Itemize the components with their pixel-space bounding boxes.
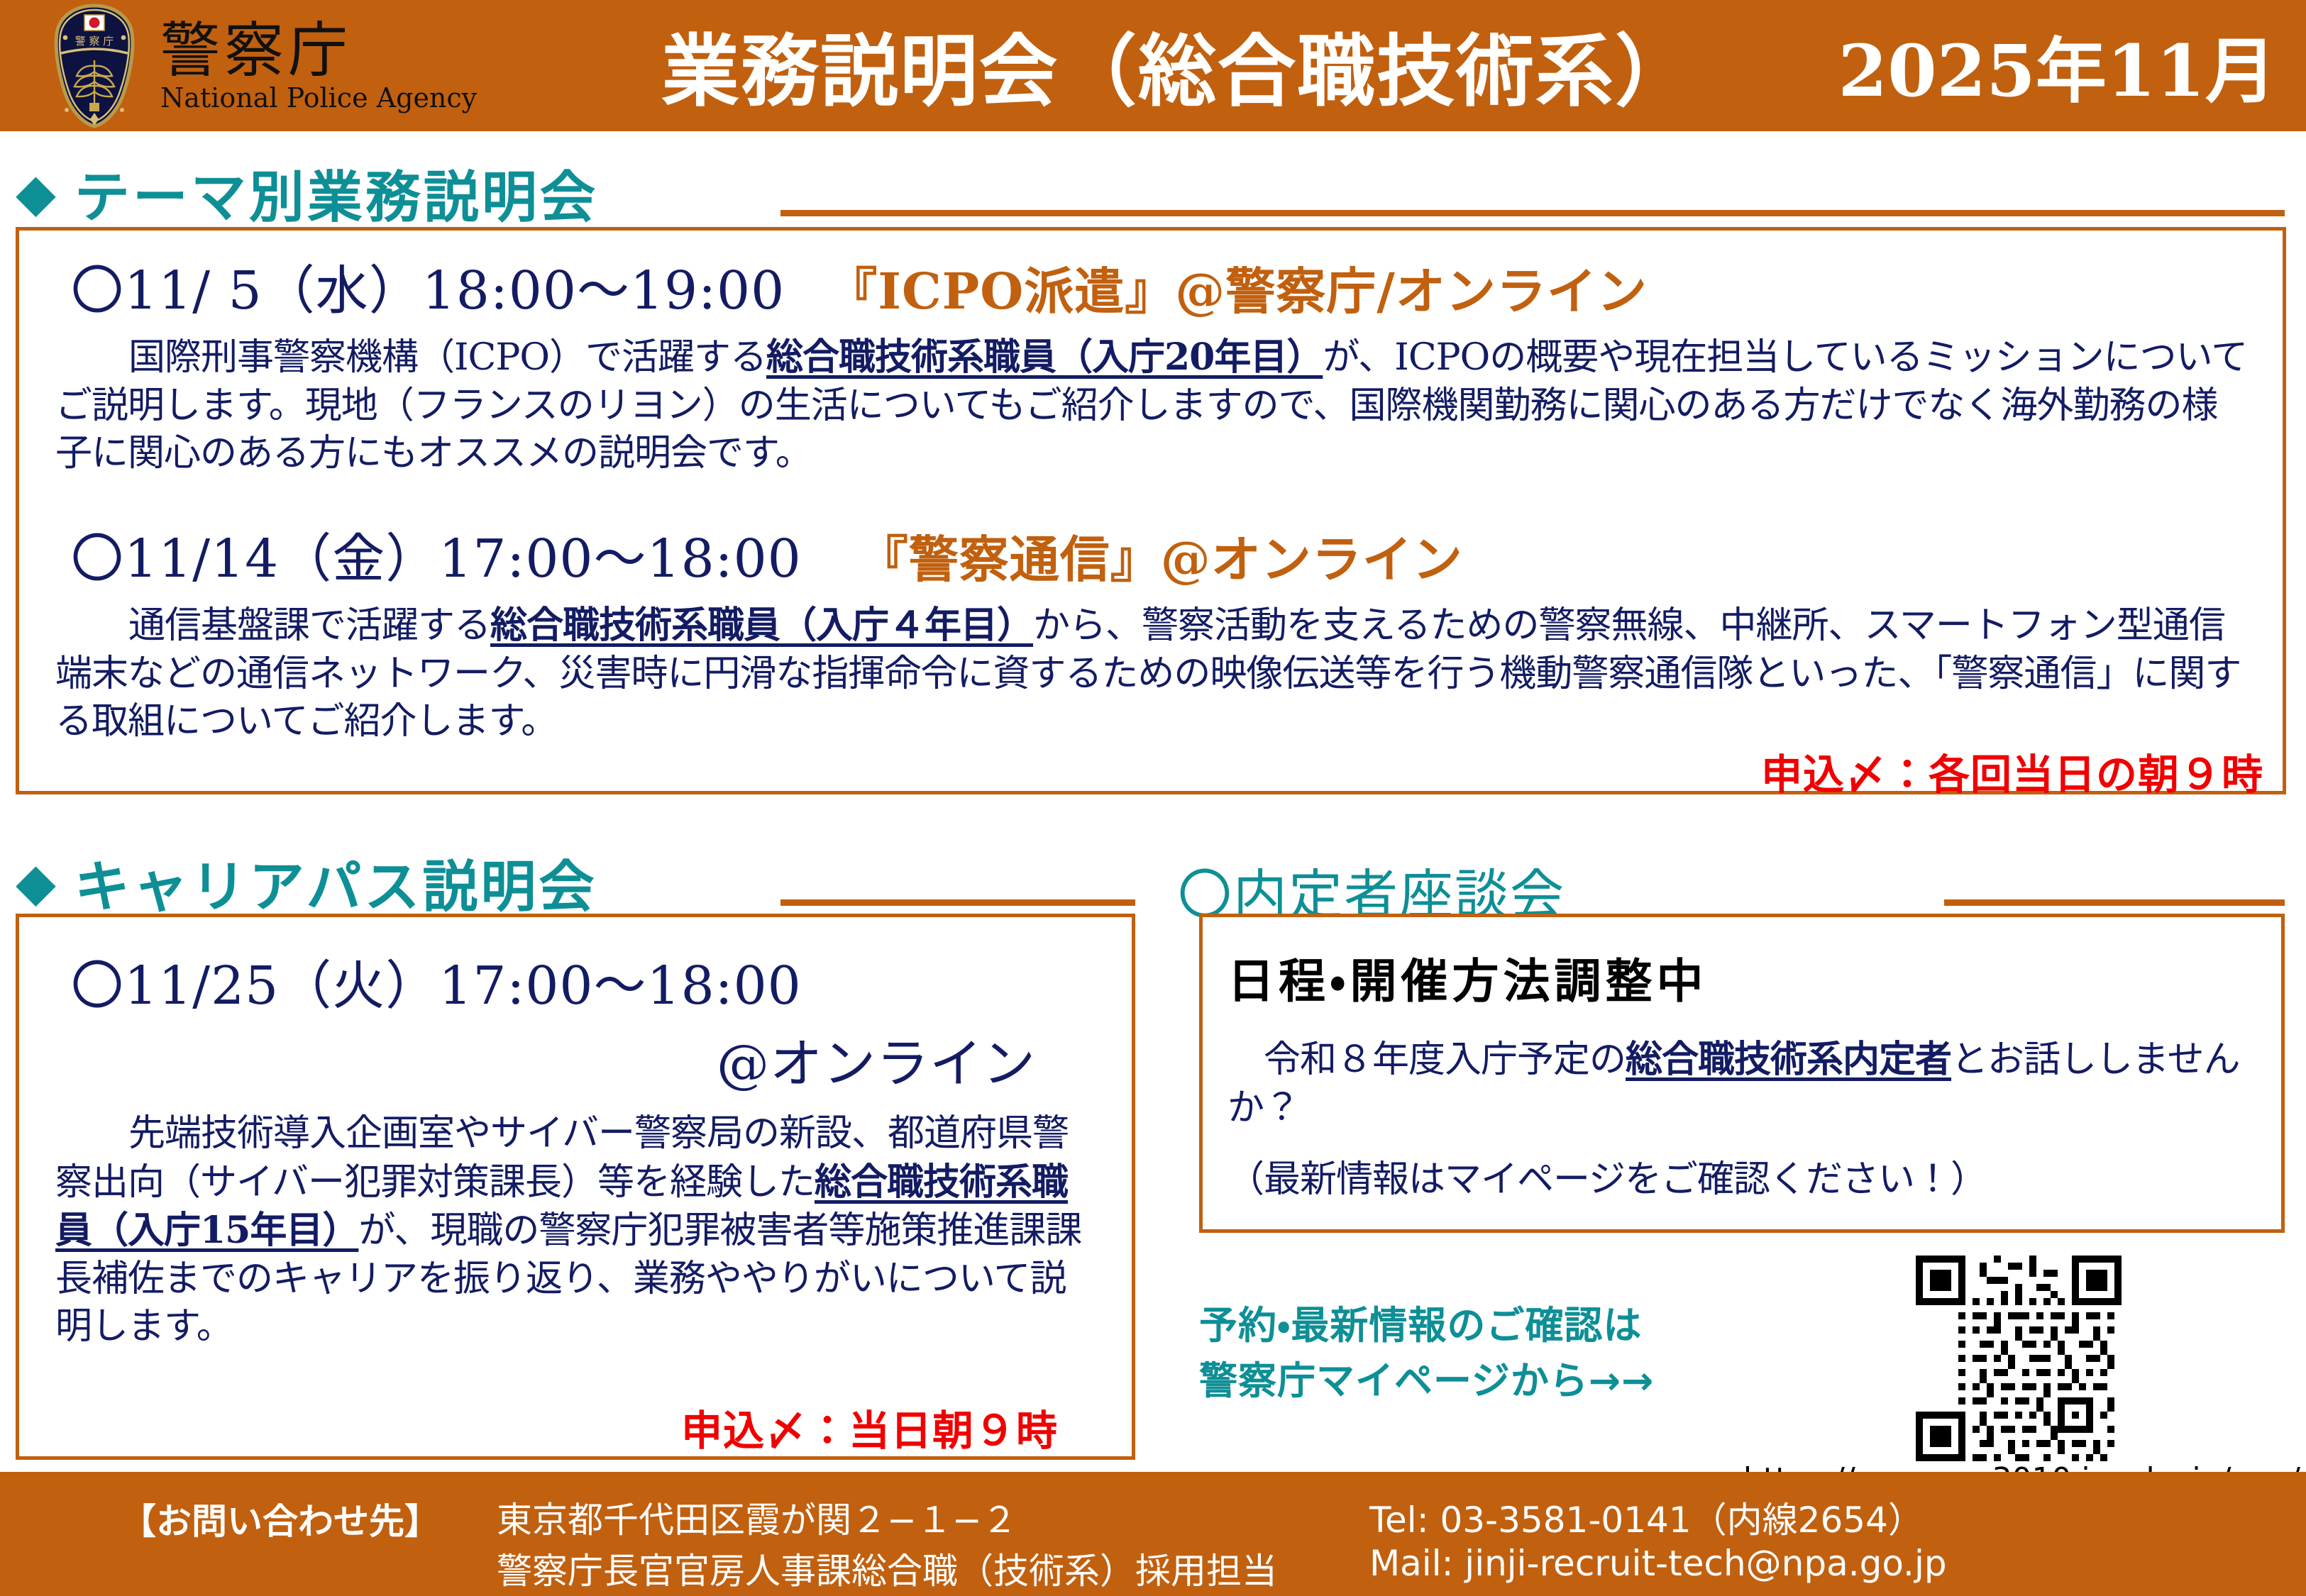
- naitei-body-highlight: 総合職技術系内定者: [1626, 1038, 1951, 1081]
- promo-line-1: 予約・最新情報のご確認は: [1199, 1298, 1909, 1353]
- agency-logo: 警 察 庁: [41, 1, 587, 131]
- page-title: 業務説明会（総合職技術系）: [568, 4, 1788, 125]
- event-2-topic: 『警察通信』@オンライン: [859, 520, 1463, 592]
- section-rule-naitei: [1944, 899, 2285, 906]
- career-place-line: @オンライン: [717, 1021, 1036, 1097]
- section-heading-career-label: キャリアパス説明会: [75, 843, 597, 922]
- event-2-when: 〇11/14（金）17:00〜18:00: [71, 516, 802, 592]
- promo-text: 予約・最新情報のご確認は 警察庁マイページから→→: [1199, 1298, 1909, 1409]
- section-rule-career: [780, 899, 1135, 906]
- contact-label: 【お問い合わせ先】: [121, 1493, 440, 1544]
- event-1-body-part1: 国際刑事警察機構（ICPO）で活躍する: [92, 336, 766, 379]
- section-heading-theme: ◆ テーマ別業務説明会: [16, 153, 598, 233]
- event-1-body: 国際刑事警察機構（ICPO）で活躍する総合職技術系職員（入庁20年目）が、ICP…: [55, 333, 2248, 478]
- event-1-topic: 『ICPO派遣』@警察庁/オンライン: [827, 252, 1648, 323]
- event-2-body: 通信基盤課で活躍する総合職技術系職員（入庁４年目）から、警察活動を支えるための警…: [55, 602, 2248, 746]
- section-rule-theme: [780, 210, 2285, 216]
- career-when-line: 〇11/25（火）17:00〜18:00: [71, 943, 802, 1019]
- npa-emblem-icon: 警 察 庁: [41, 4, 148, 128]
- section-heading-career: ◆ キャリアパス説明会: [16, 843, 597, 922]
- event-1-when: 〇11/ 5（水）18:00〜19:00: [71, 248, 785, 324]
- qr-code[interactable]: [1916, 1256, 2122, 1461]
- naitei-status: 日程・開催方法調整中: [1228, 943, 1707, 1012]
- naitei-body-note: （最新情報はマイページをご確認ください！）: [1228, 1156, 2249, 1204]
- career-when: 〇11/25（火）17:00〜18:00: [71, 943, 802, 1019]
- diamond-icon: ◆: [16, 167, 56, 219]
- agency-name-en: National Police Agency: [160, 84, 477, 111]
- naitei-body-part1: 令和８年度入庁予定の: [1228, 1038, 1626, 1081]
- contact-mail[interactable]: Mail: jinji-recruit-tech@npa.go.jp: [1369, 1543, 1947, 1584]
- poster-page: 警 察 庁: [0, 0, 2306, 1596]
- event-2-title: 〇11/14（金）17:00〜18:00 『警察通信』@オンライン: [71, 516, 1463, 592]
- section-heading-theme-label: テーマ別業務説明会: [75, 153, 598, 233]
- svg-text:警 察 庁: 警 察 庁: [75, 35, 114, 48]
- theme-deadline-badge: 申込〆：各回当日の朝９時: [1761, 741, 2263, 801]
- event-1-title: 〇11/ 5（水）18:00〜19:00 『ICPO派遣』@警察庁/オンライン: [71, 248, 1648, 324]
- page-header: 警 察 庁: [0, 0, 2306, 131]
- event-1-body-highlight: 総合職技術系職員（入庁20年目）: [766, 336, 1323, 379]
- contact-address-line-1: 東京都千代田区霞が関２−１−２: [497, 1492, 1017, 1543]
- career-place: @オンライン: [717, 1021, 1036, 1097]
- naitei-body: 令和８年度入庁予定の総合職技術系内定者とお話ししませんか？: [1228, 1036, 2249, 1132]
- diamond-icon: ◆: [16, 856, 56, 909]
- event-2-body-highlight: 総合職技術系職員（入庁４年目）: [490, 604, 1033, 647]
- career-deadline-badge: 申込〆：当日朝９時: [681, 1397, 1058, 1457]
- promo-line-2: 警察庁マイページから→→: [1199, 1353, 1909, 1409]
- page-footer: 【お問い合わせ先】 東京都千代田区霞が関２−１−２ 警察庁長官官房人事課総合職（…: [0, 1472, 2306, 1596]
- agency-name-jp: 警察庁: [160, 21, 477, 80]
- contact-address-line-2: 警察庁長官官房人事課総合職（技術系）採用担当: [497, 1543, 1277, 1594]
- contact-tel: Tel: 03-3581-0141（内線2654）: [1369, 1492, 1924, 1543]
- header-date: 2025年11月: [1838, 4, 2276, 125]
- event-2-body-part1: 通信基盤課で活躍する: [92, 604, 490, 647]
- career-body: 先端技術導入企画室やサイバー警察局の新設、都道府県警察出向（サイバー犯罪対策課長…: [55, 1110, 1098, 1351]
